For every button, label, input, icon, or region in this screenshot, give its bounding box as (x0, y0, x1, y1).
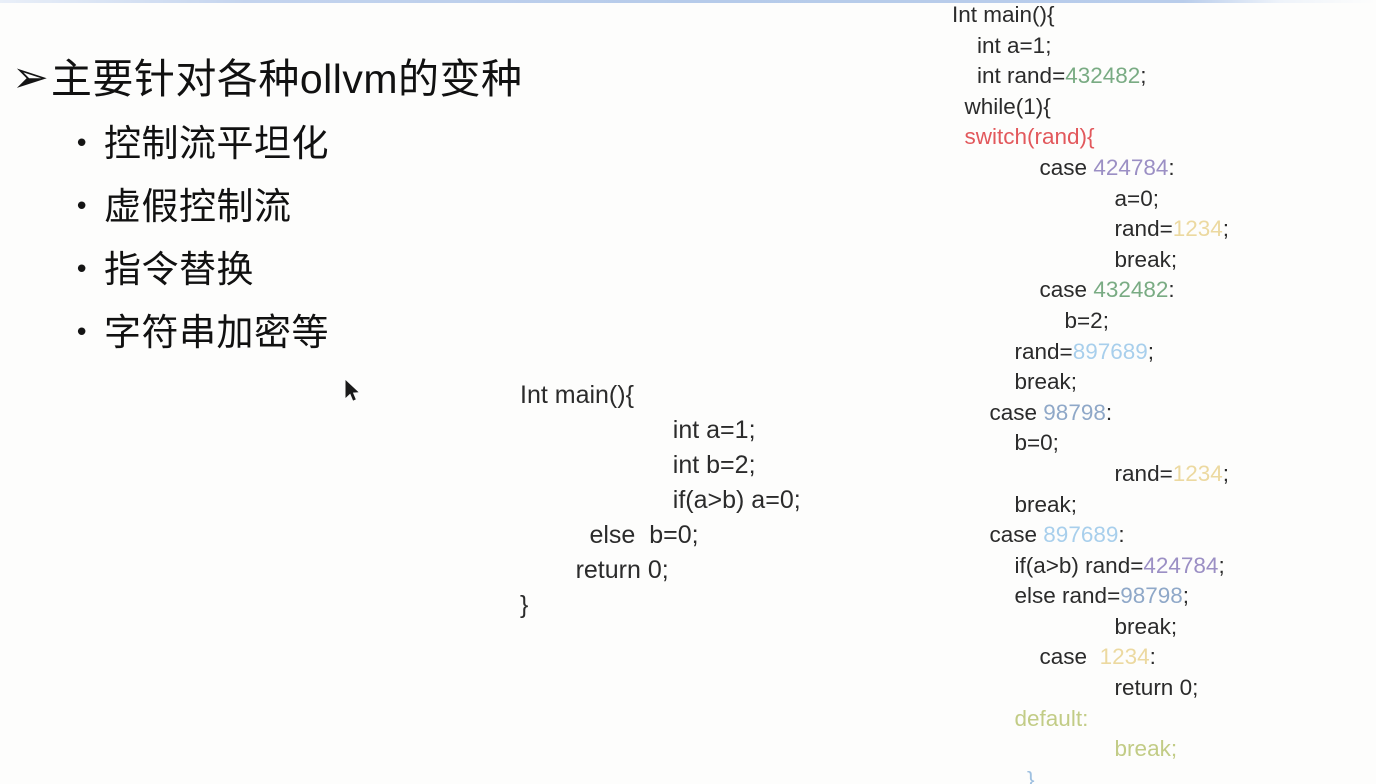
code-token: rand= (1115, 216, 1173, 241)
dot-bullet-icon: • (74, 320, 104, 346)
list-item: • 字符串加密等 (74, 301, 662, 364)
code-block-flattened-source: Int main(){ int a=1; int rand=432482; wh… (952, 0, 1229, 784)
code-token: break; (1015, 369, 1078, 394)
code-line: int a=1; (952, 31, 1229, 62)
code-token: Int main(){ (952, 2, 1055, 27)
code-token: 897689 (1073, 339, 1148, 364)
arrowhead-bullet-icon: ➢ (12, 52, 49, 104)
code-token: : (1106, 400, 1112, 425)
code-line: Int main(){ (952, 0, 1229, 31)
code-token: ; (1223, 461, 1229, 486)
code-token: 1234 (1173, 461, 1223, 486)
code-line: break; (952, 245, 1229, 276)
list-item: • 控制流平坦化 (74, 112, 662, 175)
code-line: case 424784: (952, 153, 1229, 184)
code-token: 432482 (1065, 63, 1140, 88)
code-line: else rand=98798; (952, 581, 1229, 612)
code-line: default: (952, 704, 1229, 735)
dot-bullet-icon: • (74, 131, 104, 157)
code-line: else b=0; (520, 518, 801, 553)
code-line: if(a>b) a=0; (520, 483, 801, 518)
code-token: switch(rand){ (965, 124, 1095, 149)
code-token: int a=1; (977, 33, 1051, 58)
code-line: } (520, 588, 801, 623)
code-token: default: (1015, 706, 1089, 731)
code-line: Int main(){ (520, 378, 801, 413)
code-token: case (1040, 155, 1094, 180)
code-token: a=0; (1115, 186, 1159, 211)
code-line: b=0; (952, 428, 1229, 459)
list-item-label: 控制流平坦化 (104, 122, 329, 166)
code-token: ; (1218, 553, 1224, 578)
code-token: break; (1115, 614, 1178, 639)
code-line: } (952, 765, 1229, 784)
code-token: ; (1223, 216, 1229, 241)
code-line: return 0; (952, 673, 1229, 704)
code-line: break; (952, 490, 1229, 521)
code-line: case 1234: (952, 642, 1229, 673)
list-item-label: 虚假控制流 (104, 185, 292, 229)
sub-bullet-list: • 控制流平坦化 • 虚假控制流 • 指令替换 • 字符串加密等 (12, 112, 662, 364)
code-token: int rand= (977, 63, 1065, 88)
code-token: while(1){ (965, 94, 1051, 119)
list-item-label: 字符串加密等 (104, 311, 329, 355)
mouse-pointer-icon (344, 379, 360, 403)
code-line: b=2; (952, 306, 1229, 337)
lead-bullet-row: ➢ 主要针对各种ollvm的变种 (12, 52, 662, 106)
code-line: case 432482: (952, 275, 1229, 306)
code-token: case (1040, 277, 1094, 302)
code-token: break; (1115, 736, 1178, 761)
code-token: case (1040, 644, 1100, 669)
code-line: int rand=432482; (952, 61, 1229, 92)
code-token: case (990, 522, 1044, 547)
code-token: 424784 (1093, 155, 1168, 180)
code-token: 1234 (1173, 216, 1223, 241)
code-token: } (1027, 767, 1035, 784)
code-token: : (1168, 277, 1174, 302)
code-token: : (1168, 155, 1174, 180)
list-item: • 指令替换 (74, 238, 662, 301)
code-token: ; (1183, 583, 1189, 608)
code-line: rand=897689; (952, 337, 1229, 368)
code-token: 432482 (1093, 277, 1168, 302)
code-token: break; (1015, 492, 1078, 517)
code-line: int a=1; (520, 413, 801, 448)
code-line: while(1){ (952, 92, 1229, 123)
dot-bullet-icon: • (74, 257, 104, 283)
code-line: a=0; (952, 184, 1229, 215)
code-line: break; (952, 367, 1229, 398)
code-line: switch(rand){ (952, 122, 1229, 153)
list-item: • 虚假控制流 (74, 175, 662, 238)
code-token: b=2; (1065, 308, 1109, 333)
bullet-list: ➢ 主要针对各种ollvm的变种 • 控制流平坦化 • 虚假控制流 • 指令替换… (12, 52, 662, 364)
code-line: rand=1234; (952, 459, 1229, 490)
code-token: : (1150, 644, 1156, 669)
code-line: break; (952, 612, 1229, 643)
dot-bullet-icon: • (74, 194, 104, 220)
code-token: return 0; (1115, 675, 1199, 700)
list-item-label: 指令替换 (104, 248, 254, 292)
code-token: if(a>b) rand= (1015, 553, 1144, 578)
code-line: if(a>b) rand=424784; (952, 551, 1229, 582)
code-token: ; (1140, 63, 1146, 88)
code-token: 98798 (1120, 583, 1183, 608)
code-token: b=0; (1015, 430, 1059, 455)
code-token: case (990, 400, 1044, 425)
code-token: 1234 (1100, 644, 1150, 669)
code-token: 897689 (1043, 522, 1118, 547)
code-line: break; (952, 734, 1229, 765)
code-line: rand=1234; (952, 214, 1229, 245)
code-token: rand= (1015, 339, 1073, 364)
lead-bullet-label: 主要针对各种ollvm的变种 (51, 52, 523, 106)
code-token: rand= (1115, 461, 1173, 486)
code-line: return 0; (520, 553, 801, 588)
code-token: 98798 (1043, 400, 1106, 425)
code-token: break; (1115, 247, 1178, 272)
code-block-plain-source: Int main(){ int a=1; int b=2; if(a>b) a=… (520, 378, 801, 623)
code-line: case 897689: (952, 520, 1229, 551)
code-token: : (1118, 522, 1124, 547)
code-token: ; (1148, 339, 1154, 364)
code-token: else rand= (1015, 583, 1121, 608)
code-token: 424784 (1143, 553, 1218, 578)
code-line: case 98798: (952, 398, 1229, 429)
code-line: int b=2; (520, 448, 801, 483)
slide-canvas: ➢ 主要针对各种ollvm的变种 • 控制流平坦化 • 虚假控制流 • 指令替换… (0, 0, 1376, 784)
